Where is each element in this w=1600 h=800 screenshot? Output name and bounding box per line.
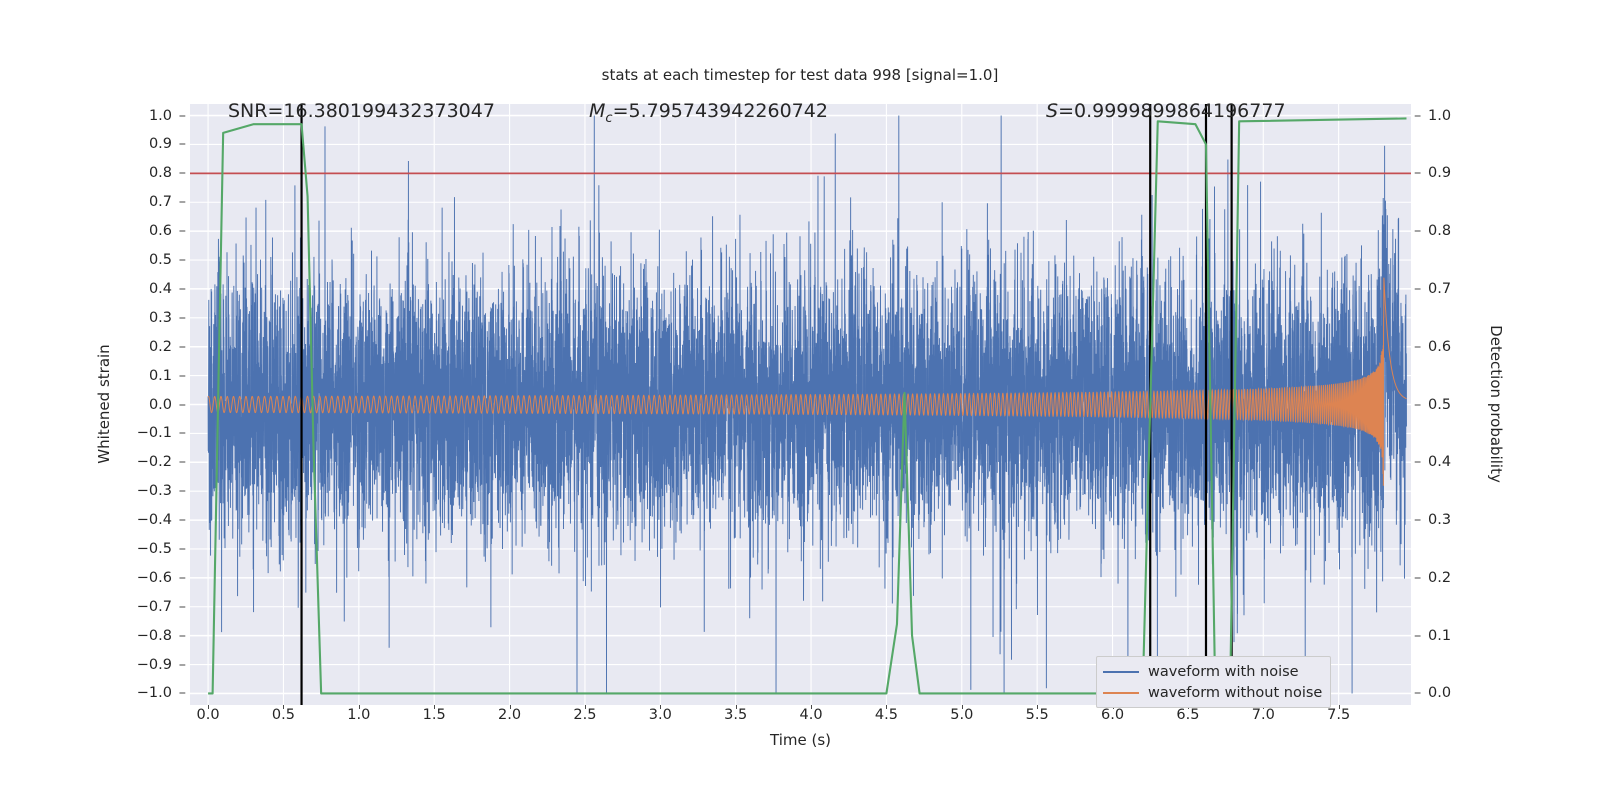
- x-tick-mark-10: [962, 705, 963, 709]
- x-tick-8: 4.0: [800, 707, 823, 723]
- x-tick-mark-5: [585, 705, 586, 709]
- y-tick-left-9: 0.1–: [149, 368, 186, 384]
- y-tick-left-13: −0.3–: [137, 483, 186, 499]
- y-tick-right-3: –0.7: [1414, 281, 1451, 297]
- annotation-mc-value: 5.795743942260742: [628, 100, 827, 122]
- y-tick-left-10: 0.0–: [149, 397, 186, 413]
- x-tick-mark-8: [811, 705, 812, 709]
- annotation-s-prefix: =: [1058, 100, 1074, 122]
- x-axis-label: Time (s): [190, 731, 1411, 749]
- annotation-snr-prefix: SNR=: [228, 100, 283, 122]
- x-tick-15: 7.5: [1327, 707, 1350, 723]
- x-tick-mark-15: [1339, 705, 1340, 709]
- figure-canvas: stats at each timestep for test data 998…: [0, 0, 1600, 800]
- y-tick-right-5: –0.5: [1414, 397, 1451, 413]
- annotation-snr: SNR=16.380199432373047: [228, 100, 495, 122]
- x-tick-mark-2: [359, 705, 360, 709]
- x-tick-mark-9: [886, 705, 887, 709]
- x-tick-9: 4.5: [875, 707, 898, 723]
- legend[interactable]: waveform with noise waveform without noi…: [1096, 656, 1331, 708]
- plot-axes-area: [190, 104, 1411, 705]
- annotation-chirp-mass: Mc=5.795743942260742: [589, 100, 828, 126]
- y-tick-left-0: 1.0–: [149, 108, 186, 124]
- legend-label-0: waveform with noise: [1148, 664, 1299, 680]
- y-tick-right-1: –0.9: [1414, 165, 1451, 181]
- annotation-mc-prefix: =: [613, 100, 629, 122]
- x-tick-10: 5.0: [950, 707, 973, 723]
- y-axis-left-label: Whitened strain: [95, 344, 113, 463]
- y-tick-right-9: –0.1: [1414, 628, 1451, 644]
- annotation-significance: S=0.9999899864196777: [1046, 100, 1286, 122]
- y-tick-left-5: 0.5–: [149, 252, 186, 268]
- y-tick-left-1: 0.9–: [149, 136, 186, 152]
- legend-item-waveform-with-noise[interactable]: waveform with noise: [1103, 661, 1322, 682]
- y-tick-left-6: 0.4–: [149, 281, 186, 297]
- y-tick-left-14: −0.4–: [137, 512, 186, 528]
- x-tick-3: 1.5: [423, 707, 446, 723]
- y-tick-right-8: –0.2: [1414, 570, 1451, 586]
- y-tick-right-2: –0.8: [1414, 223, 1451, 239]
- y-axis-right-label: Detection probability: [1487, 325, 1505, 483]
- y-tick-left-11: −0.1–: [137, 425, 186, 441]
- x-tick-0: 0.0: [197, 707, 220, 723]
- x-tick-1: 0.5: [272, 707, 295, 723]
- y-tick-left-4: 0.6–: [149, 223, 186, 239]
- y-tick-left-19: −0.9–: [137, 657, 186, 673]
- x-tick-mark-6: [660, 705, 661, 709]
- y-tick-left-16: −0.6–: [137, 570, 186, 586]
- y-tick-left-7: 0.3–: [149, 310, 186, 326]
- x-tick-6: 3.0: [649, 707, 672, 723]
- annotation-s-symbol: S: [1046, 100, 1058, 122]
- annotation-s-value: 0.9999899864196777: [1074, 100, 1286, 122]
- y-tick-left-2: 0.8–: [149, 165, 186, 181]
- x-tick-12: 6.0: [1101, 707, 1124, 723]
- y-tick-left-3: 0.7–: [149, 194, 186, 210]
- x-tick-14: 7.0: [1252, 707, 1275, 723]
- plot-title: stats at each timestep for test data 998…: [0, 66, 1600, 84]
- y-tick-right-4: –0.6: [1414, 339, 1451, 355]
- y-tick-left-15: −0.5–: [137, 541, 186, 557]
- x-tick-mark-3: [434, 705, 435, 709]
- x-tick-mark-4: [510, 705, 511, 709]
- y-tick-left-17: −0.7–: [137, 599, 186, 615]
- y-tick-right-7: –0.3: [1414, 512, 1451, 528]
- y-tick-right-0: –1.0: [1414, 108, 1451, 124]
- annotation-snr-value: 16.380199432373047: [283, 100, 495, 122]
- annotation-mc-symbol: M: [589, 100, 605, 122]
- x-tick-mark-7: [736, 705, 737, 709]
- y-tick-left-12: −0.2–: [137, 454, 186, 470]
- y-tick-left-18: −0.8–: [137, 628, 186, 644]
- x-tick-mark-1: [283, 705, 284, 709]
- x-tick-4: 2.0: [498, 707, 521, 723]
- y-tick-right-6: –0.4: [1414, 454, 1451, 470]
- y-tick-left-8: 0.2–: [149, 339, 186, 355]
- x-tick-7: 3.5: [724, 707, 747, 723]
- legend-swatch-line-blue: [1103, 671, 1139, 673]
- y-tick-left-20: −1.0–: [137, 685, 186, 701]
- x-tick-13: 6.5: [1176, 707, 1199, 723]
- legend-swatch-line-orange: [1103, 692, 1139, 694]
- legend-label-1: waveform without noise: [1148, 685, 1322, 701]
- legend-item-waveform-without-noise[interactable]: waveform without noise: [1103, 682, 1322, 703]
- x-tick-5: 2.5: [573, 707, 596, 723]
- annotation-mc-subscript: c: [605, 111, 612, 126]
- x-tick-mark-0: [208, 705, 209, 709]
- x-tick-11: 5.5: [1026, 707, 1049, 723]
- x-tick-2: 1.0: [347, 707, 370, 723]
- plot-svg: [190, 104, 1411, 705]
- y-tick-right-10: –0.0: [1414, 685, 1451, 701]
- x-tick-mark-11: [1037, 705, 1038, 709]
